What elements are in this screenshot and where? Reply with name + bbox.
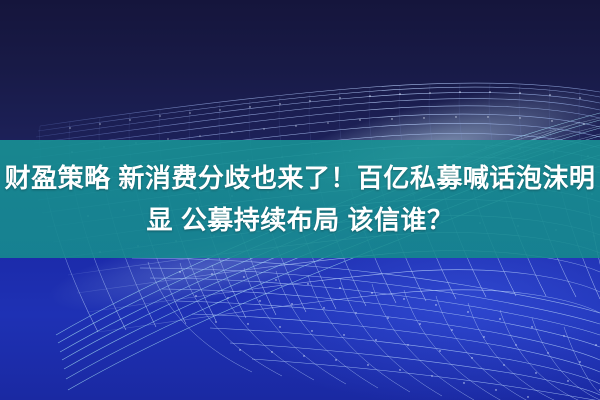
- banner-title-line-2: 显 公募持续布局 该信谁？: [147, 199, 454, 241]
- banner-title: 财盈策略 新消费分歧也来了！百亿私募喊话泡沫明 显 公募持续布局 该信谁？: [0, 140, 600, 258]
- banner-title-line-1: 财盈策略 新消费分歧也来了！百亿私募喊话泡沫明: [5, 157, 596, 199]
- banner-image: 财盈策略 新消费分歧也来了！百亿私募喊话泡沫明 显 公募持续布局 该信谁？: [0, 0, 600, 400]
